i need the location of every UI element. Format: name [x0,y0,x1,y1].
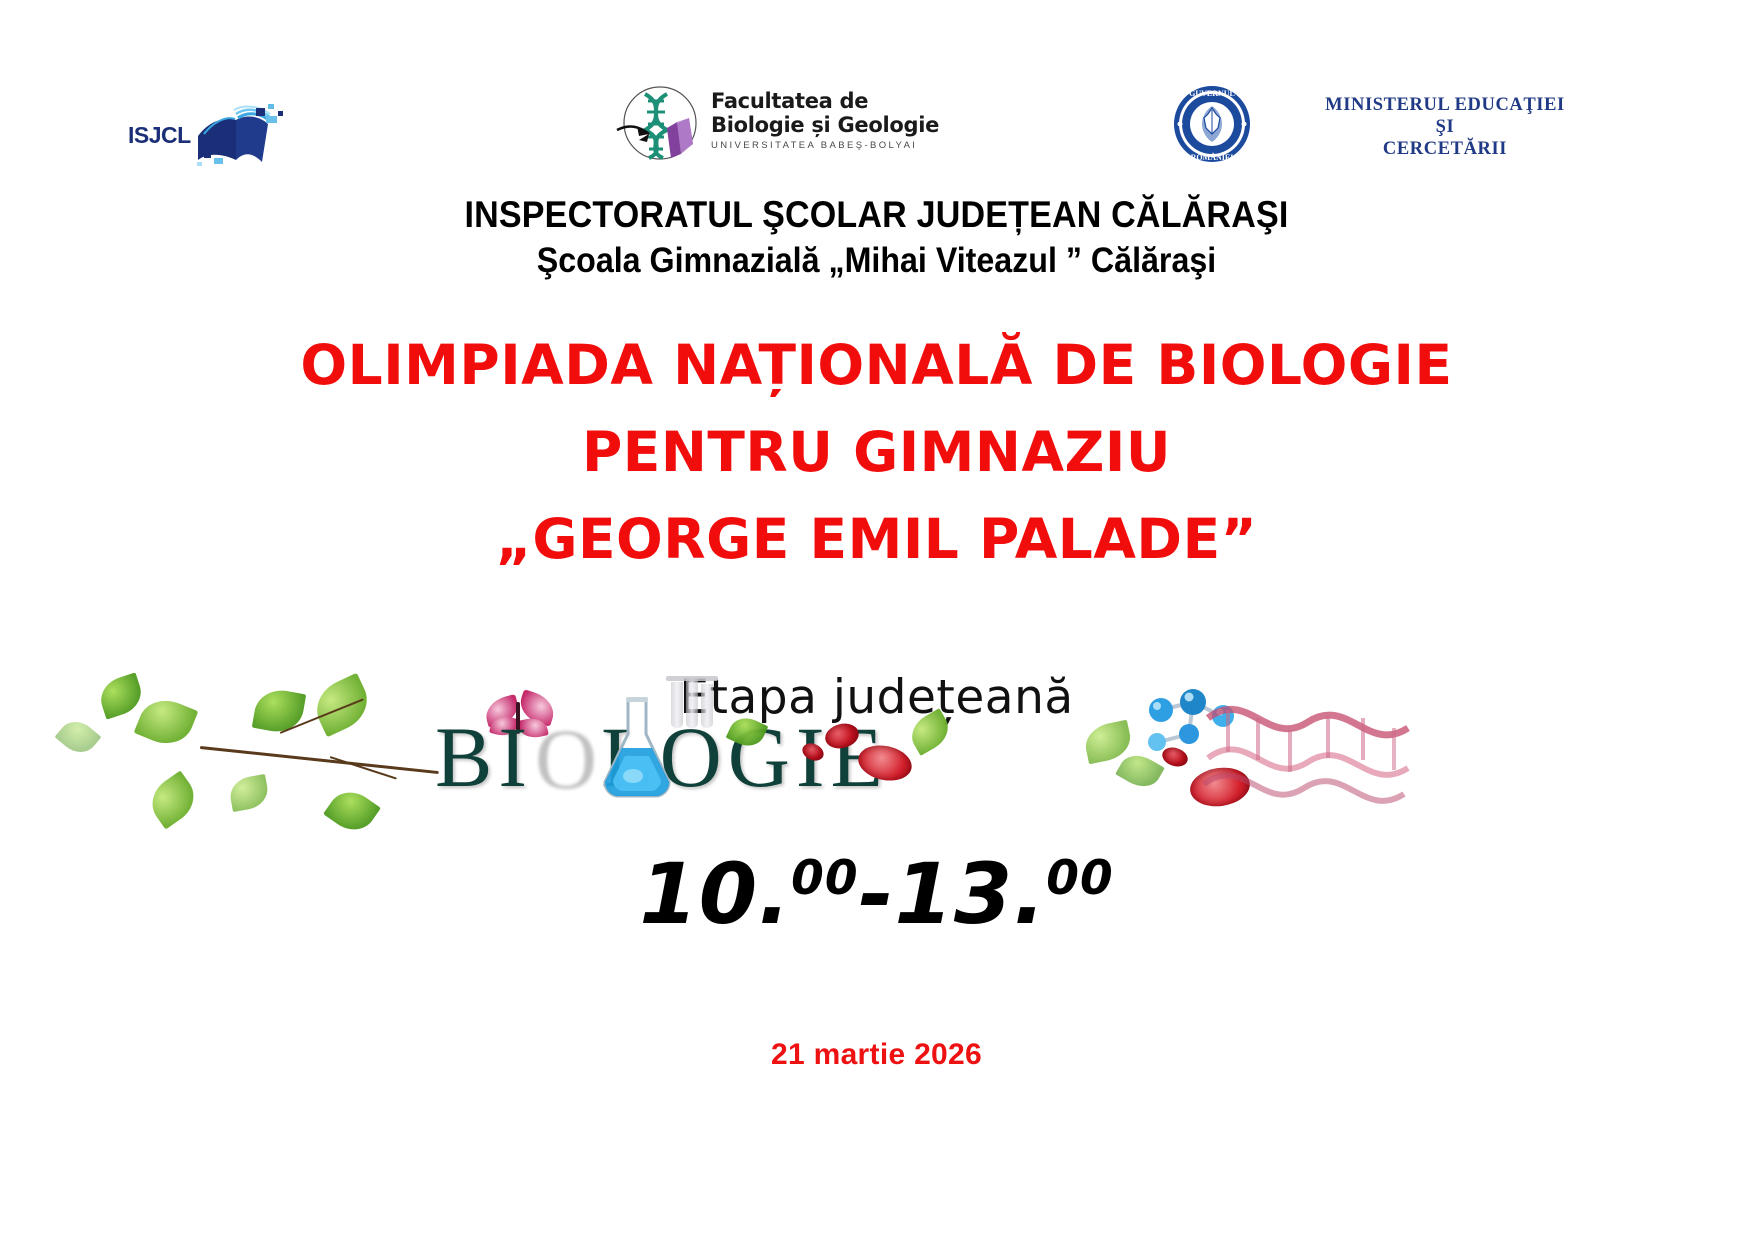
university-line: UNIVERSITATEA BABEŞ-BOLYAI [711,140,951,151]
ministry-line-2: ŞI [1260,116,1630,138]
leaf-decoration [143,770,204,829]
institution-header: INSPECTORATUL ŞCOLAR JUDEȚEAN CĂLĂRAŞI Ş… [0,192,1753,284]
dna-crystal-emblem-icon [615,82,701,164]
end-minutes: 00 [1046,851,1113,906]
faculty-line-1: Facultatea de [711,89,951,113]
end-hour: 13. [894,845,1046,943]
leaf-decoration [228,774,271,812]
leaf-decoration [134,692,199,752]
babes-bolyai-logo: Facultatea de Biologie și Geologie UNIVE… [615,82,955,166]
leaf-decoration [55,714,102,760]
open-book-icon [194,102,286,166]
ministry-line-3: CERCETĂRII [1260,138,1630,160]
svg-text:GUVERNUL: GUVERNUL [1189,89,1235,98]
start-minutes: 00 [791,851,858,906]
leaf-decoration [308,673,376,738]
leaf-decoration [95,672,146,719]
biologie-banner-image: BIOLOGIE [30,672,1530,852]
start-hour: 10. [639,845,791,943]
isjcl-logo: ISJCL [128,96,288,168]
leaf-decoration [323,783,381,839]
test-tube-rack [666,676,718,681]
county-inspectorate-line: INSPECTORATUL ŞCOLAR JUDEȚEAN CĂLĂRAŞI [70,192,1683,238]
olympiad-title: OLIMPIADA NAȚIONALĂ DE BIOLOGIE PENTRU G… [0,322,1753,583]
banner-letter: O [533,709,601,805]
title-line-2: PENTRU GIMNAZIU [0,409,1753,496]
leaf-decoration [252,686,307,736]
title-line-1: OLIMPIADA NAȚIONALĂ DE BIOLOGIE [0,322,1753,409]
ministry-line-1: MINISTERUL EDUCAŢIEI [1260,94,1630,116]
isjcl-logo-text: ISJCL [128,122,191,149]
dna-helix-decoration [1198,688,1428,838]
logo-bar: ISJCL [0,78,1753,178]
ministry-logo: GUVERNUL ROMÂNIEI MINISTERUL EDUCAŢIEI Ş… [1172,84,1632,170]
ministry-logo-text: MINISTERUL EDUCAŢIEI ŞI CERCETĂRII [1260,94,1630,160]
faculty-line-2: Biologie și Geologie [711,113,951,137]
event-date: 21 martie 2026 [0,1038,1753,1072]
schedule-time: 10.00-13.00 [0,845,1753,943]
banner-letter: I [498,709,533,805]
time-separator: - [859,845,895,943]
svg-text:ROMÂNIEI: ROMÂNIEI [1191,152,1234,162]
title-line-3: „GEORGE EMIL PALADE” [0,496,1753,583]
babes-bolyai-logo-text: Facultatea de Biologie și Geologie UNIVE… [711,89,951,151]
school-name-line: Şcoala Gimnazială „Mihai Viteazul ” Călă… [70,238,1683,284]
blue-flask-icon [595,694,679,802]
branch-decoration [200,746,439,774]
banner-letter: B [435,709,498,805]
romania-government-seal-icon: GUVERNUL ROMÂNIEI [1172,84,1252,164]
leaf-decoration [905,708,956,756]
